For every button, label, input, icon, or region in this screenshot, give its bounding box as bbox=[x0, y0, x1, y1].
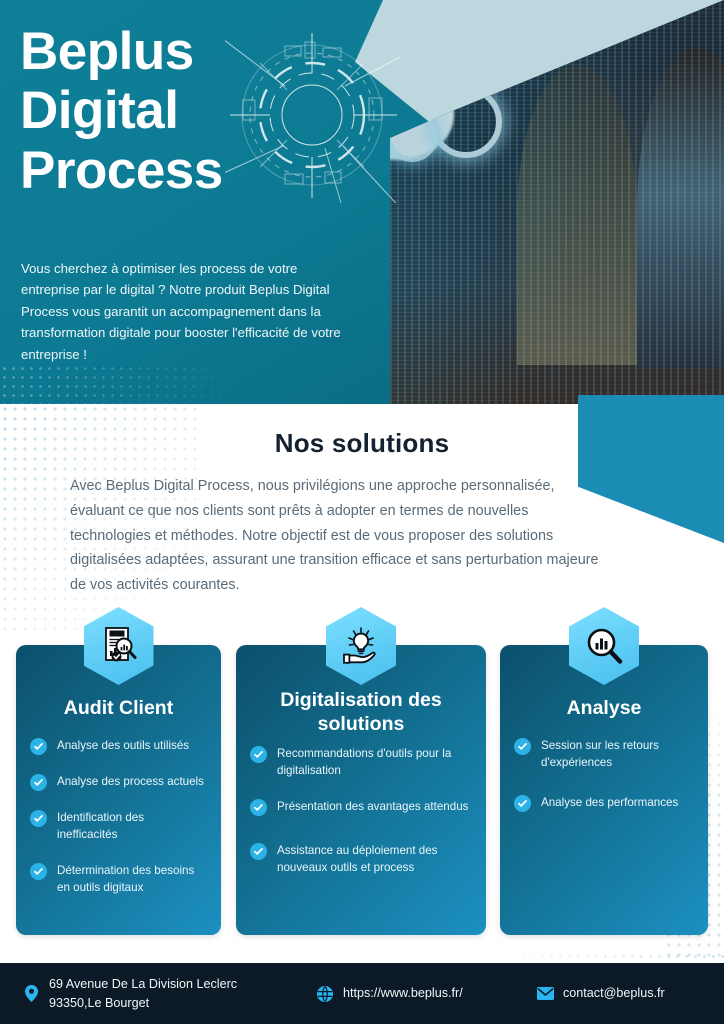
card-bullet-list: Recommandations d'outils pour la digital… bbox=[236, 745, 486, 895]
title-line-3: Process bbox=[20, 141, 223, 200]
footer-website[interactable]: https://www.beplus.fr/ bbox=[316, 984, 463, 1002]
hero-dot-pattern bbox=[0, 364, 250, 404]
card-analyse[interactable]: Analyse Session sur les retours d'expéri… bbox=[500, 645, 708, 935]
bullet-text: Session sur les retours d'expériences bbox=[541, 737, 694, 772]
title-line-1: Beplus bbox=[20, 22, 223, 81]
list-item: Session sur les retours d'expériences bbox=[514, 737, 694, 772]
footer-email-text: contact@beplus.fr bbox=[563, 984, 665, 1002]
list-item: Analyse des performances bbox=[514, 794, 694, 812]
hero-subtitle: Vous cherchez à optimiser les process de… bbox=[21, 258, 341, 365]
title-line-2: Digital bbox=[20, 81, 223, 140]
footer-address-line2: 93350,Le Bourget bbox=[49, 996, 149, 1010]
check-circle-icon bbox=[514, 738, 531, 755]
bullet-text: Détermination des besoins en outils digi… bbox=[57, 862, 207, 897]
footer-address: 69 Avenue De La Division Leclerc 93350,L… bbox=[22, 975, 237, 1012]
card-title: Digitalisation des solutions bbox=[236, 689, 486, 737]
envelope-icon bbox=[536, 985, 554, 1003]
bullet-text: Analyse des outils utilisés bbox=[57, 737, 189, 754]
section-body: Avec Beplus Digital Process, nous privil… bbox=[70, 474, 605, 598]
magnifier-bar-chart-icon bbox=[584, 626, 624, 666]
check-circle-icon bbox=[250, 799, 267, 816]
check-circle-icon bbox=[250, 843, 267, 860]
bullet-text: Recommandations d'outils pour la digital… bbox=[277, 745, 472, 780]
card-icon-hexagon bbox=[569, 607, 639, 685]
list-item: Recommandations d'outils pour la digital… bbox=[250, 745, 472, 780]
card-icon-hexagon bbox=[84, 607, 154, 685]
card-digitalisation-des-solutions[interactable]: Digitalisation des solutions Recommandat… bbox=[236, 645, 486, 935]
footer-email[interactable]: contact@beplus.fr bbox=[536, 984, 665, 1002]
list-item: Présentation des avantages attendus bbox=[250, 798, 472, 816]
location-pin-icon bbox=[22, 985, 40, 1003]
card-audit-client[interactable]: Audit Client Analyse des outils utilisés… bbox=[16, 645, 221, 935]
bullet-text: Identification des inefficacités bbox=[57, 809, 207, 844]
list-item: Détermination des besoins en outils digi… bbox=[30, 862, 207, 897]
hand-lightbulb-icon bbox=[340, 625, 382, 667]
globe-icon bbox=[316, 985, 334, 1003]
bullet-text: Analyse des process actuels bbox=[57, 773, 204, 790]
check-circle-icon bbox=[514, 795, 531, 812]
check-circle-icon bbox=[30, 738, 47, 755]
list-item: Analyse des process actuels bbox=[30, 773, 207, 791]
check-circle-icon bbox=[30, 774, 47, 791]
footer-address-text: 69 Avenue De La Division Leclerc 93350,L… bbox=[49, 975, 237, 1012]
card-title: Audit Client bbox=[16, 697, 221, 721]
hero-section: Beplus Digital Process Vous cherchez à o… bbox=[0, 0, 724, 404]
poster-page: Beplus Digital Process Vous cherchez à o… bbox=[0, 0, 724, 1024]
card-icon-hexagon bbox=[326, 607, 396, 685]
check-circle-icon bbox=[30, 810, 47, 827]
tech-circle-graphic bbox=[225, 28, 400, 203]
card-bullet-list: Session sur les retours d'expériences An… bbox=[500, 737, 708, 830]
page-title: Beplus Digital Process bbox=[20, 22, 223, 200]
list-item: Analyse des outils utilisés bbox=[30, 737, 207, 755]
list-item: Assistance au déploiement des nouveaux o… bbox=[250, 842, 472, 877]
bullet-text: Présentation des avantages attendus bbox=[277, 798, 468, 815]
bullet-text: Analyse des performances bbox=[541, 794, 678, 811]
footer-website-text: https://www.beplus.fr/ bbox=[343, 984, 463, 1002]
check-circle-icon bbox=[250, 746, 267, 763]
solution-cards: Audit Client Analyse des outils utilisés… bbox=[0, 645, 724, 940]
card-title: Analyse bbox=[500, 697, 708, 721]
card-bullet-list: Analyse des outils utilisés Analyse des … bbox=[16, 737, 221, 915]
audit-document-magnifier-icon bbox=[100, 626, 138, 666]
list-item: Identification des inefficacités bbox=[30, 809, 207, 844]
footer: 69 Avenue De La Division Leclerc 93350,L… bbox=[0, 963, 724, 1024]
section-title: Nos solutions bbox=[0, 428, 724, 459]
check-circle-icon bbox=[30, 863, 47, 880]
footer-address-line1: 69 Avenue De La Division Leclerc bbox=[49, 977, 237, 991]
bullet-text: Assistance au déploiement des nouveaux o… bbox=[277, 842, 472, 877]
